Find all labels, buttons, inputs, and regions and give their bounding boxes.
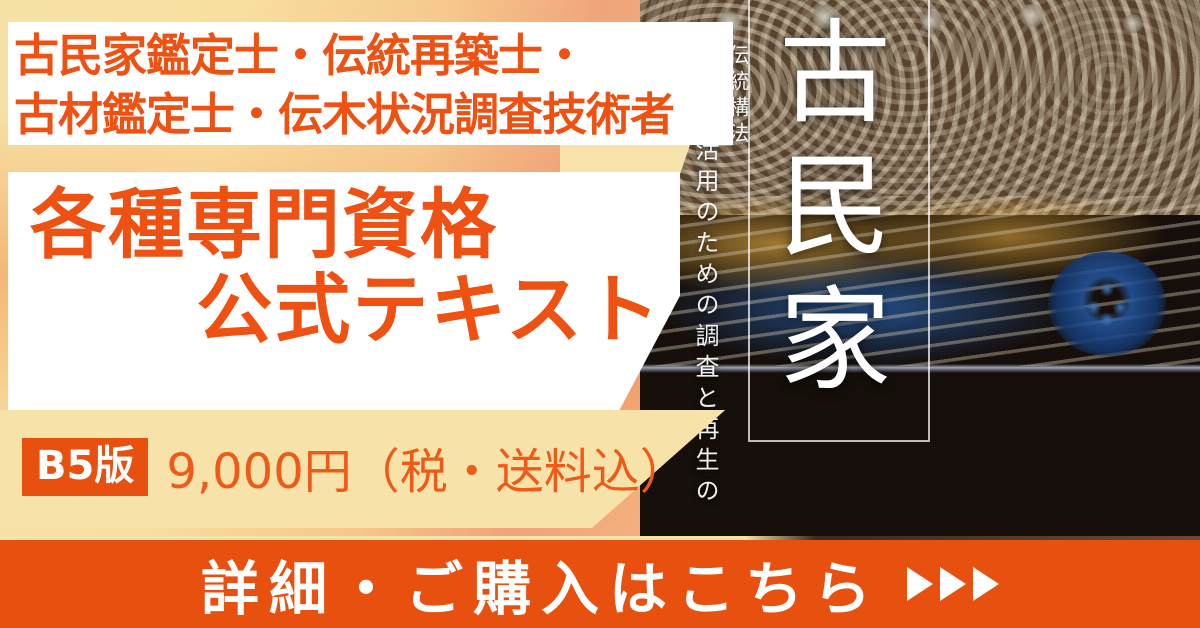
cover-title: 古民家 <box>760 8 912 408</box>
headline: 古民家鑑定士・伝統再築士・ 古材鑑定士・伝木状況調査技術者 <box>14 26 730 145</box>
chevron-right-icon-1 <box>907 567 933 601</box>
subhead-line-1: 各種専門資格 <box>20 182 680 267</box>
chevron-right-icon-2 <box>940 567 966 601</box>
subhead: 各種専門資格 公式テキスト <box>20 182 680 354</box>
price-row: B5版 9,000円（税・送料込） <box>22 432 688 502</box>
price-amount: 9,000円（税・送料込） <box>166 432 687 502</box>
cta-arrow-group <box>907 567 999 601</box>
promo-banner: 古民家 伝統構法 古民家活用のための調査と再生の 古民家鑑定士・伝統再築士・ 古… <box>0 0 1200 628</box>
headline-line-2: 古材鑑定士・伝木状況調査技術者 <box>14 85 730 144</box>
cta-bar[interactable]: 詳細・ご購入はこちら <box>0 540 1200 628</box>
format-badge: B5版 <box>22 438 148 496</box>
headline-line-1: 古民家鑑定士・伝統再築士・ <box>14 26 730 85</box>
cta-label: 詳細・ご購入はこちら <box>201 542 881 626</box>
subhead-line-2: 公式テキスト <box>20 267 680 354</box>
chevron-right-icon-3 <box>973 567 999 601</box>
